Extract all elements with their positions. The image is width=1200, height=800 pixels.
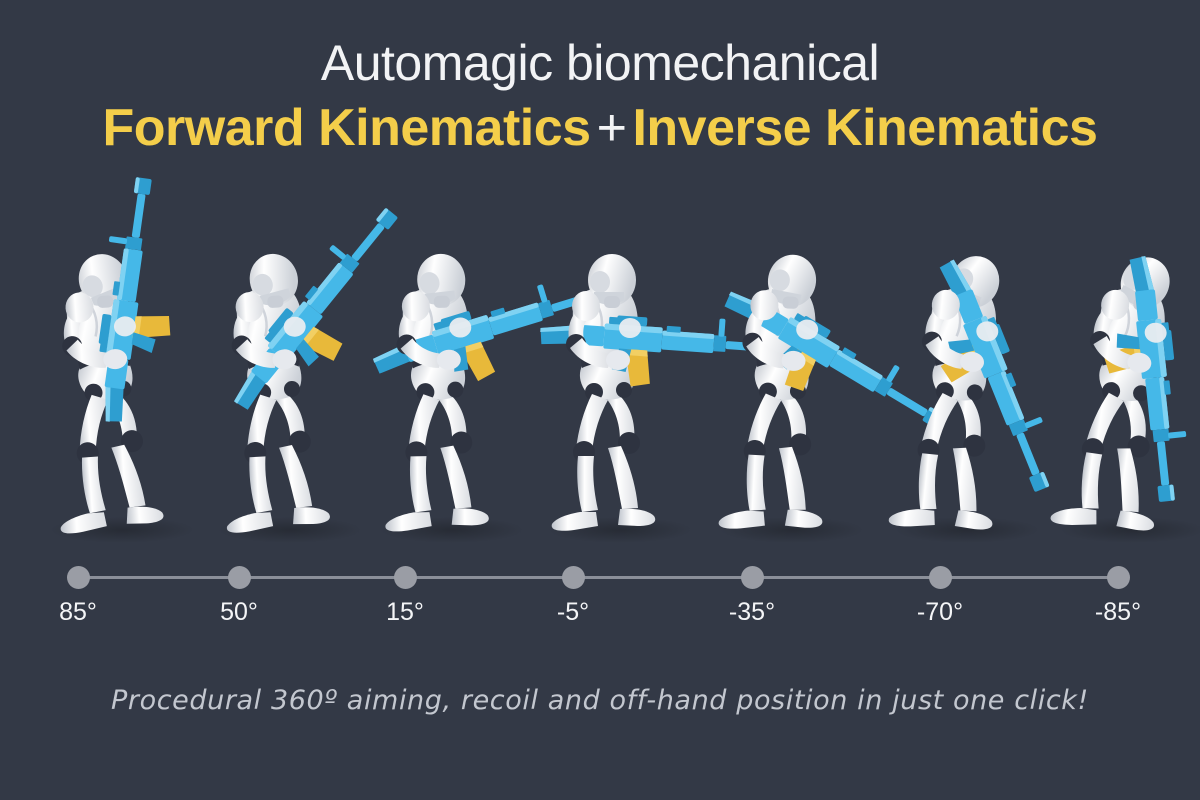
angle-timeline[interactable]: 85°50°15°-5°-35°-70°-85°: [0, 556, 1200, 636]
timeline-label-2: 15°: [386, 598, 424, 627]
timeline-label-0: 85°: [59, 598, 97, 627]
page-title: Automagic biomechanical Forward Kinemati…: [0, 38, 1200, 154]
support-arm: [619, 318, 641, 338]
timeline-tick-4[interactable]: [741, 566, 764, 589]
title-line-primary: Automagic biomechanical: [0, 38, 1200, 88]
timeline-tick-0[interactable]: [67, 566, 90, 589]
front-leg: [888, 389, 958, 531]
title-forward-kinematics: Forward Kinematics: [103, 99, 591, 157]
front-leg: [552, 394, 608, 531]
mannequin-sequence: [0, 178, 1200, 553]
timeline-tick-3[interactable]: [562, 566, 585, 589]
timeline-tick-2[interactable]: [394, 566, 417, 589]
back-leg: [606, 392, 655, 526]
back-leg: [773, 392, 829, 528]
promo-banner: Automagic biomechanical Forward Kinemati…: [0, 0, 1200, 800]
timeline-label-5: -70°: [917, 598, 963, 627]
front-leg: [718, 391, 781, 531]
back-leg: [437, 391, 489, 526]
back-leg: [274, 389, 330, 525]
title-plus-sign: +: [591, 99, 633, 157]
caption-text: Procedural 360º aiming, recoil and off-h…: [0, 685, 1200, 716]
timeline-tick-5[interactable]: [929, 566, 952, 589]
front-leg: [383, 394, 442, 532]
timeline-label-1: 50°: [220, 598, 258, 627]
title-line-secondary: Forward Kinematics+Inverse Kinematics: [0, 102, 1200, 154]
timeline-tick-1[interactable]: [228, 566, 251, 589]
front-leg: [1050, 387, 1125, 530]
timeline-label-4: -35°: [729, 598, 775, 627]
timeline-label-3: -5°: [557, 598, 589, 627]
back-leg: [943, 393, 1006, 531]
front-leg: [220, 394, 283, 534]
mannequin-m85: [1020, 178, 1200, 553]
title-inverse-kinematics: Inverse Kinematics: [632, 99, 1097, 157]
timeline-tick-6[interactable]: [1107, 566, 1130, 589]
timeline-label-6: -85°: [1095, 598, 1141, 627]
